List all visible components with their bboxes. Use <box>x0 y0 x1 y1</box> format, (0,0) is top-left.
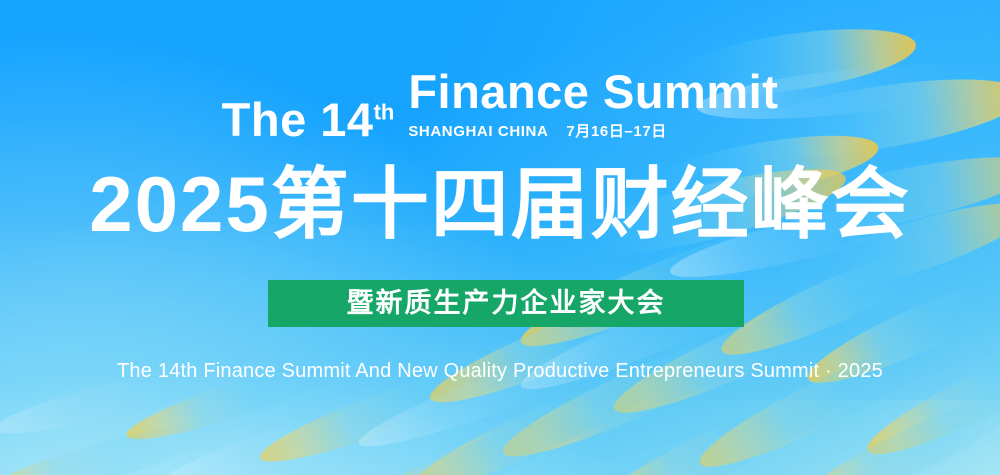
banner-content: The 14th Finance Summit SHANGHAI CHINA 7… <box>0 0 1000 475</box>
event-banner: The 14th Finance Summit SHANGHAI CHINA 7… <box>0 0 1000 475</box>
kicker-prefix: The 14 <box>222 93 374 146</box>
kicker-meta-row: SHANGHAI CHINA 7月16日–17日 <box>408 120 667 141</box>
kicker-city: SHANGHAI CHINA <box>408 123 548 140</box>
kicker-date: 7月16日–17日 <box>566 120 666 141</box>
page-title: 2025第十四届财经峰会 <box>0 165 1000 243</box>
kicker-block: The 14th Finance Summit SHANGHAI CHINA 7… <box>0 68 1000 143</box>
kicker-ordinal-suffix: th <box>374 99 395 124</box>
sub-banner-label: 暨新质生产力企业家大会 <box>347 290 666 317</box>
kicker-right-block: Finance Summit SHANGHAI CHINA 7月16日–17日 <box>408 68 778 143</box>
sub-banner: 暨新质生产力企业家大会 <box>268 280 744 327</box>
kicker-suffix: Finance Summit <box>408 68 778 115</box>
tagline: The 14th Finance Summit And New Quality … <box>0 360 1000 383</box>
kicker-english-title: The 14th <box>222 96 395 143</box>
